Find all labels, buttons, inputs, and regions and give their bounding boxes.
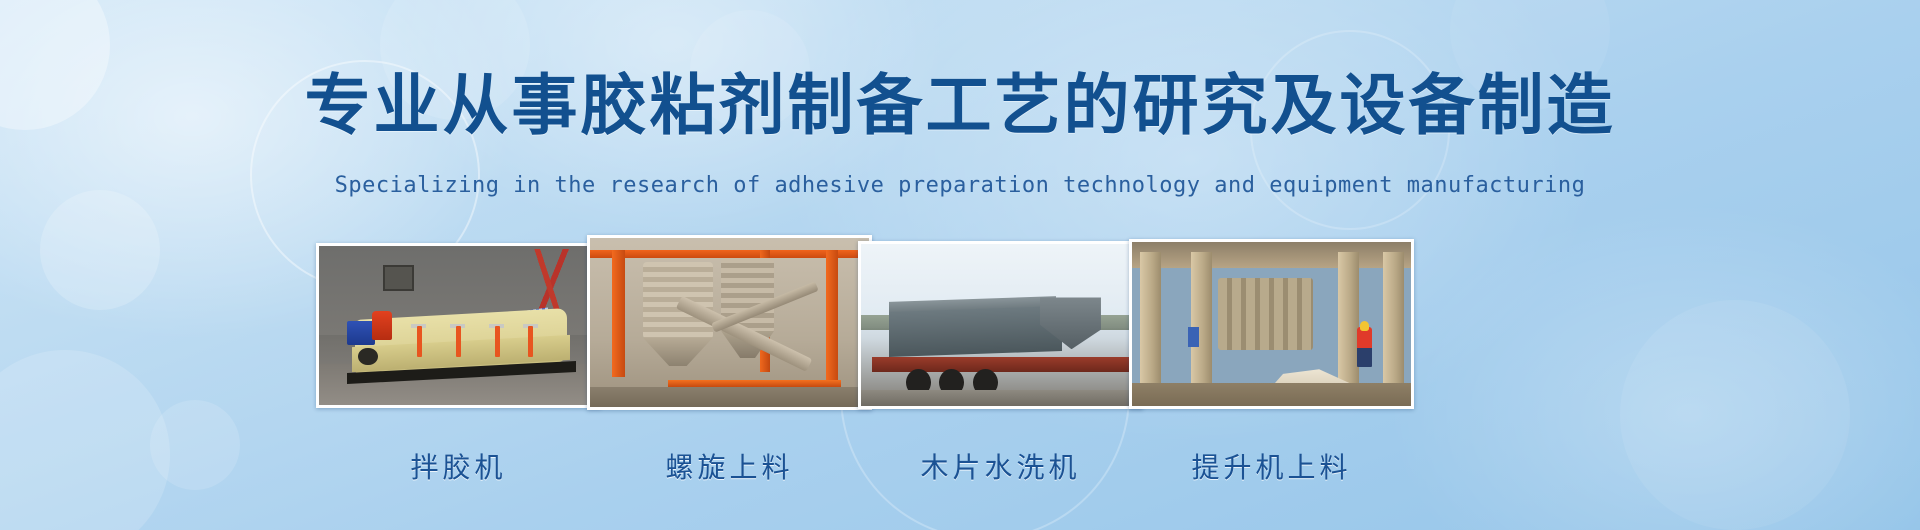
process-thumbnail-2[interactable] bbox=[587, 235, 872, 410]
bucket-elevator-photo bbox=[1132, 242, 1411, 406]
spiral-feeder-photo bbox=[590, 238, 869, 407]
process-thumbnail-1[interactable] bbox=[316, 243, 601, 408]
process-flow-strip bbox=[0, 243, 1920, 423]
process-caption-1: 拌胶机 bbox=[316, 446, 601, 486]
banner-headline: 专业从事胶粘剂制备工艺的研究及设备制造 bbox=[0, 52, 1920, 148]
process-caption-2: 螺旋上料 bbox=[587, 446, 872, 486]
hero-banner: 专业从事胶粘剂制备工艺的研究及设备制造 Specializing in the … bbox=[0, 0, 1920, 530]
process-thumbnail-3[interactable] bbox=[858, 241, 1143, 409]
process-thumbnail-4[interactable] bbox=[1129, 239, 1414, 409]
wood-chip-washer-photo bbox=[861, 244, 1140, 406]
process-caption-3: 木片水洗机 bbox=[858, 446, 1143, 486]
process-caption-4: 提升机上料 bbox=[1129, 446, 1414, 486]
banner-subtitle: Specializing in the research of adhesive… bbox=[0, 173, 1920, 198]
glue-mixer-photo bbox=[319, 246, 598, 405]
